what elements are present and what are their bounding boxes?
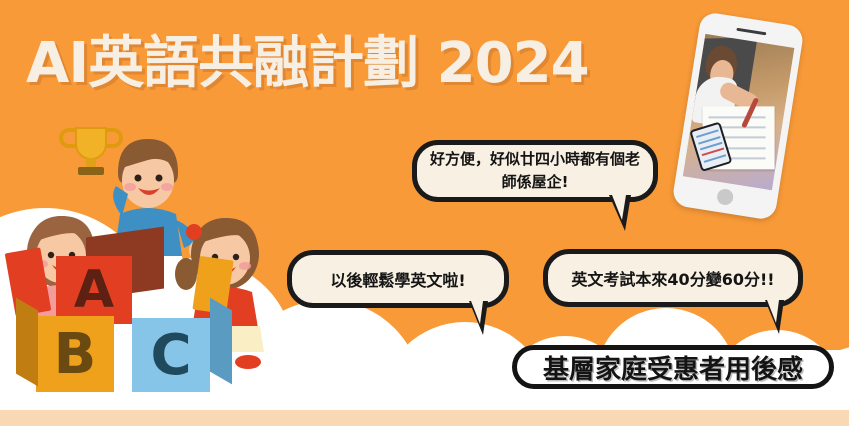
block-b-side — [16, 298, 38, 387]
phone-speaker-icon — [736, 28, 766, 36]
status-badge-label: 基層家庭受惠者用後感 — [543, 349, 803, 386]
testimonial-bubble-1-text: 好方便，好似廿四小時都有個老師係屋企! — [427, 148, 643, 195]
bubble-3-tail-fill — [767, 300, 779, 323]
testimonial-bubble-1[interactable]: 好方便，好似廿四小時都有個老師係屋企! — [412, 140, 658, 202]
bubble-2-tail-fill — [471, 301, 483, 324]
phone-screen-photo — [683, 34, 794, 190]
promo-banner: AI英語共融計劃 2024 — [0, 0, 849, 426]
bottom-accent-strip — [0, 410, 849, 426]
phone-home-button-icon — [716, 188, 734, 206]
page-title: AI英語共融計劃 2024 — [26, 36, 589, 92]
block-c-side — [210, 298, 232, 385]
testimonial-bubble-2-text: 以後輕鬆學英文啦! — [330, 267, 465, 291]
testimonial-bubble-3-text: 英文考試本來40分變60分!! — [571, 266, 774, 290]
block-c-letter: C — [132, 318, 210, 392]
status-badge[interactable]: 基層家庭受惠者用後感 — [512, 345, 834, 389]
block-b-letter: B — [36, 316, 114, 392]
testimonial-bubble-3[interactable]: 英文考試本來40分變60分!! — [543, 249, 803, 307]
testimonial-bubble-2[interactable]: 以後輕鬆學英文啦! — [287, 250, 509, 308]
block-letter-b: B — [36, 316, 114, 392]
block-letter-c: C — [132, 318, 210, 392]
block-letter-a: A — [56, 256, 132, 324]
block-a-letter: A — [56, 256, 132, 324]
bubble-1-tail-fill — [612, 195, 626, 220]
